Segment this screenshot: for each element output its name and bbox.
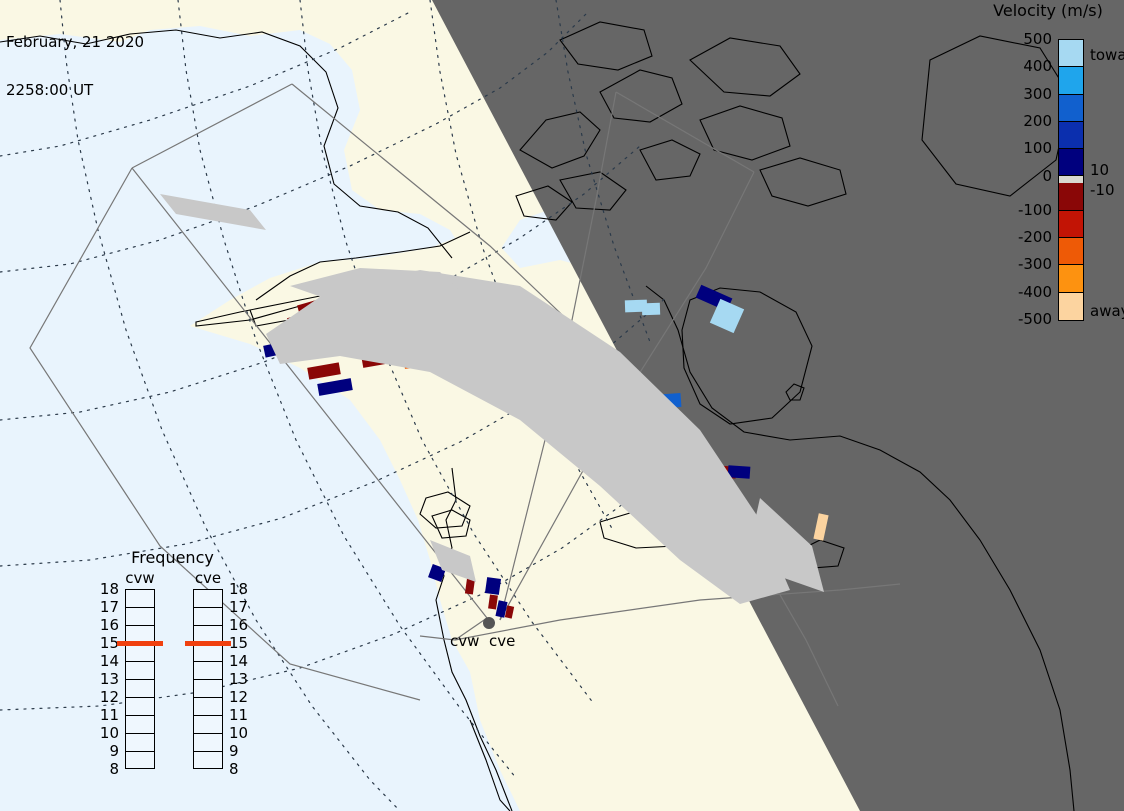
frequency-tick-label: 10 bbox=[229, 724, 255, 742]
frequency-bar-segment bbox=[194, 590, 222, 608]
frequency-bar-segment bbox=[126, 644, 154, 662]
colorbar-tick-label: 200 bbox=[996, 112, 1052, 130]
colorbar-band bbox=[1059, 183, 1083, 210]
site-label-cve: cve bbox=[489, 632, 515, 650]
colorbar-tick-label: 500 bbox=[996, 30, 1052, 48]
frequency-bar-segment bbox=[194, 680, 222, 698]
frequency-bar-segment bbox=[126, 590, 154, 608]
frequency-column-header-cvw: cvw bbox=[117, 569, 163, 587]
radar-velocity-map: February, 21 2020 2258:00 UT Velocity (m… bbox=[0, 0, 1124, 811]
colorbar-negative-threshold-label: -10 bbox=[1090, 181, 1115, 199]
frequency-bar-segment bbox=[194, 662, 222, 680]
velocity-cell bbox=[485, 577, 501, 595]
frequency-tick-label: 13 bbox=[229, 670, 255, 688]
frequency-tick-label: 15 bbox=[229, 634, 255, 652]
frequency-bar-segment bbox=[126, 698, 154, 716]
frequency-marker-cvw bbox=[117, 641, 163, 646]
frequency-marker-cve bbox=[185, 641, 231, 646]
colorbar-tick-label: 100 bbox=[996, 139, 1052, 157]
colorbar-tick-label: -400 bbox=[996, 283, 1052, 301]
frequency-tick-label: 11 bbox=[93, 706, 119, 724]
colorbar-band bbox=[1059, 95, 1083, 122]
frequency-bar-segment bbox=[126, 734, 154, 752]
frequency-tick-label: 12 bbox=[229, 688, 255, 706]
colorbar-tick-label: -200 bbox=[996, 228, 1052, 246]
frequency-bar-segment bbox=[194, 698, 222, 716]
frequency-tick-label: 8 bbox=[93, 760, 119, 778]
colorbar-tick-label: -100 bbox=[996, 201, 1052, 219]
frequency-bar-segment bbox=[194, 752, 222, 770]
colorbar-band bbox=[1059, 122, 1083, 149]
colorbar-away-label: away bbox=[1090, 302, 1124, 320]
colorbar-toward-label: toward bbox=[1090, 46, 1124, 64]
frequency-tick-label: 14 bbox=[93, 652, 119, 670]
colorbar-band bbox=[1059, 238, 1083, 265]
frequency-legend-title: Frequency bbox=[85, 548, 260, 567]
frequency-bar-segment bbox=[194, 608, 222, 626]
frequency-tick-label: 18 bbox=[229, 580, 255, 598]
frequency-bar-segment bbox=[194, 734, 222, 752]
frequency-bar-cve bbox=[193, 589, 223, 769]
frequency-bar-segment bbox=[194, 644, 222, 662]
colorbar-tick-label: 400 bbox=[996, 57, 1052, 75]
timestamp: February, 21 2020 2258:00 UT bbox=[6, 2, 144, 130]
frequency-tick-label: 10 bbox=[93, 724, 119, 742]
radar-site-marker bbox=[483, 617, 495, 629]
timestamp-time: 2258:00 UT bbox=[6, 82, 144, 98]
colorbar-tick-label: -500 bbox=[996, 310, 1052, 328]
colorbar-title: Velocity (m/s) bbox=[972, 1, 1124, 20]
colorbar-tick-label: 300 bbox=[996, 85, 1052, 103]
colorbar-band bbox=[1059, 211, 1083, 238]
frequency-bar-segment bbox=[126, 662, 154, 680]
colorbar-positive-threshold-label: 10 bbox=[1090, 161, 1109, 179]
frequency-tick-label: 9 bbox=[229, 742, 255, 760]
frequency-tick-label: 15 bbox=[93, 634, 119, 652]
frequency-bar-cvw bbox=[125, 589, 155, 769]
colorbar-tick-label: 0 bbox=[996, 167, 1052, 185]
frequency-tick-label: 9 bbox=[93, 742, 119, 760]
frequency-legend: Frequency cvw cve 18171615141312111098 1… bbox=[85, 548, 260, 776]
frequency-tick-label: 17 bbox=[229, 598, 255, 616]
velocity-colorbar bbox=[1058, 39, 1084, 321]
frequency-tick-label: 8 bbox=[229, 760, 255, 778]
colorbar-band bbox=[1059, 67, 1083, 94]
frequency-tick-label: 16 bbox=[229, 616, 255, 634]
colorbar-band bbox=[1059, 40, 1083, 67]
site-label-cvw: cvw bbox=[450, 632, 479, 650]
colorbar-band bbox=[1059, 149, 1083, 176]
frequency-tick-label: 14 bbox=[229, 652, 255, 670]
colorbar-band bbox=[1059, 265, 1083, 292]
frequency-tick-label: 18 bbox=[93, 580, 119, 598]
frequency-bar-segment bbox=[126, 608, 154, 626]
frequency-tick-label: 11 bbox=[229, 706, 255, 724]
timestamp-date: February, 21 2020 bbox=[6, 34, 144, 50]
frequency-tick-label: 13 bbox=[93, 670, 119, 688]
frequency-tick-label: 12 bbox=[93, 688, 119, 706]
frequency-bar-segment bbox=[126, 680, 154, 698]
velocity-cell bbox=[642, 303, 660, 316]
frequency-tick-label: 17 bbox=[93, 598, 119, 616]
colorbar-tick-label: -300 bbox=[996, 255, 1052, 273]
frequency-bar-segment bbox=[194, 716, 222, 734]
frequency-bar-segment bbox=[126, 716, 154, 734]
frequency-bar-segment bbox=[126, 752, 154, 770]
colorbar-band bbox=[1059, 293, 1083, 320]
frequency-column-header-cve: cve bbox=[185, 569, 231, 587]
colorbar-band bbox=[1059, 176, 1083, 183]
frequency-tick-label: 16 bbox=[93, 616, 119, 634]
